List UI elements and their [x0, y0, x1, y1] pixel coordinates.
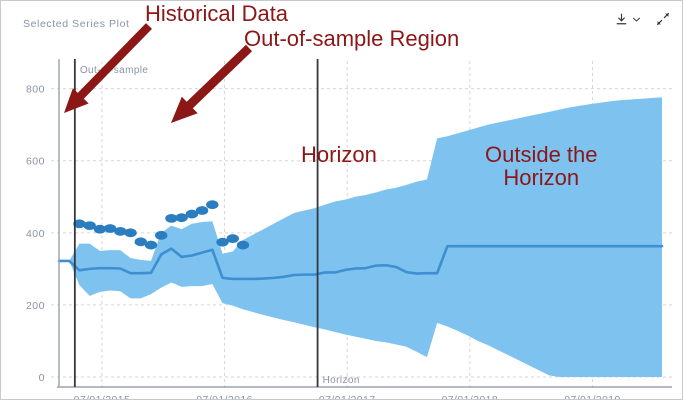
y-axis-tick-labels: 0200400600800	[26, 84, 45, 384]
annotation-outside-the-horizon: Outside the Horizon	[485, 143, 598, 190]
chart-canvas: Out-of-sampleHorizon 0200400600800 07/01…	[1, 1, 683, 400]
x-axis-tick-labels: 07/01/201507/01/201607/01/201707/01/2018…	[74, 394, 621, 400]
selected-series-plot-panel: Selected Series Plot	[0, 0, 683, 400]
y-tick-label: 600	[26, 156, 45, 168]
annotation-out-of-sample-region: Out-of-sample Region	[244, 27, 459, 50]
y-tick-label: 200	[26, 300, 45, 312]
y-tick-label: 0	[39, 372, 45, 384]
x-tick-label: 07/01/2017	[319, 394, 376, 400]
x-tick-label: 07/01/2016	[196, 394, 253, 400]
y-tick-label: 800	[26, 84, 45, 96]
y-tick-label: 400	[26, 228, 45, 240]
confidence-band	[59, 97, 662, 377]
annotation-horizon: Horizon	[301, 143, 377, 166]
x-tick-label: 07/01/2019	[564, 394, 621, 400]
chart-svg: Out-of-sampleHorizon 0200400600800 07/01…	[1, 1, 683, 400]
vertical-marker-label: Horizon	[323, 375, 360, 386]
annotation-historical-data: Historical Data	[145, 2, 288, 25]
x-tick-label: 07/01/2018	[442, 394, 499, 400]
vertical-markers: Out-of-sampleHorizon	[75, 59, 360, 387]
x-tick-label: 07/01/2015	[74, 394, 131, 400]
